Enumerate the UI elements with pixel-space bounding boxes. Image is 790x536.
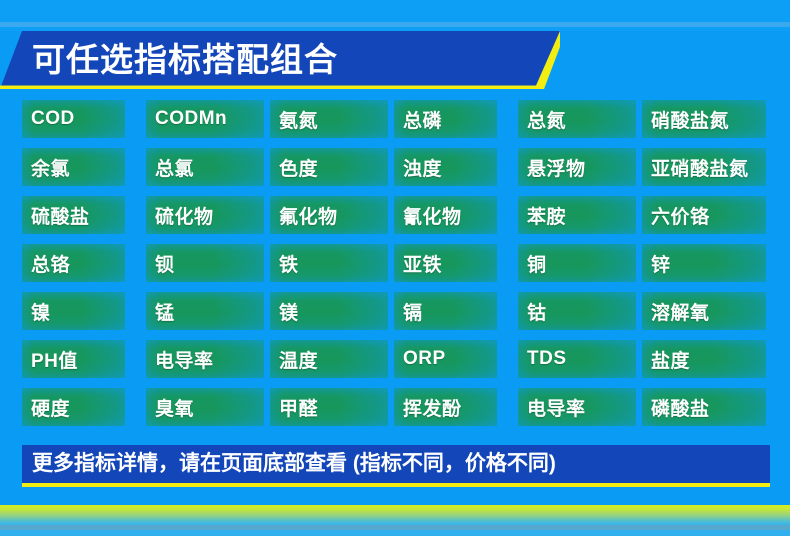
indicator-tag-cell: 色度 [270,148,394,196]
indicator-tag[interactable]: 钡 [146,244,264,282]
indicator-tag-row: 镍锰镁镉钴溶解氧 [22,292,770,340]
indicator-tag[interactable]: 余氯 [22,148,125,186]
indicator-tag-cell: 甲醛 [270,388,394,436]
indicator-tag[interactable]: CODMn [146,100,264,138]
bottom-spacer [0,489,790,505]
indicator-tag-cell: 亚铁 [394,244,518,292]
indicator-tag-cell: 锰 [146,292,270,340]
indicator-tag-cell: 磷酸盐 [642,388,766,436]
indicator-tag-cell: 总磷 [394,100,518,148]
indicator-tag[interactable]: ORP [394,340,497,378]
indicator-tag-cell: CODMn [146,100,270,148]
indicator-tag[interactable]: 氨氮 [270,100,388,138]
indicator-tag-row: PH值电导率温度ORPTDS盐度 [22,340,770,388]
indicator-tag-grid: CODCODMn氨氮总磷总氮硝酸盐氮余氯总氯色度浊度悬浮物亚硝酸盐氮硫酸盐硫化物… [22,100,770,436]
indicator-tag-cell: 镍 [22,292,146,340]
indicator-tag-row: CODCODMn氨氮总磷总氮硝酸盐氮 [22,100,770,148]
indicator-tag-cell: 锌 [642,244,766,292]
indicator-tag-cell: 铁 [270,244,394,292]
indicator-tag-cell: 臭氧 [146,388,270,436]
indicator-tag-cell: 氟化物 [270,196,394,244]
indicator-tag-cell: 悬浮物 [518,148,642,196]
indicator-tag[interactable]: 氟化物 [270,196,388,234]
indicator-tag[interactable]: 甲醛 [270,388,388,426]
indicator-tag-row: 硬度臭氧甲醛挥发酚电导率磷酸盐 [22,388,770,436]
indicator-tag[interactable]: 锌 [642,244,766,282]
indicator-tag-cell: 硫化物 [146,196,270,244]
indicator-tag[interactable]: 磷酸盐 [642,388,766,426]
indicator-tag[interactable]: 色度 [270,148,388,186]
indicator-tag[interactable]: 总氯 [146,148,264,186]
indicator-tag-cell: 浊度 [394,148,518,196]
indicator-tag[interactable]: 硬度 [22,388,125,426]
top-strip-primary [0,0,790,22]
indicator-tag[interactable]: 亚铁 [394,244,497,282]
indicator-tag-cell: 硫酸盐 [22,196,146,244]
indicator-tag-cell: 钡 [146,244,270,292]
footer-note-banner: 更多指标详情，请在页面底部查看 (指标不同，价格不同) [22,445,770,487]
indicator-tag-cell: 氰化物 [394,196,518,244]
indicator-tag[interactable]: 挥发酚 [394,388,497,426]
indicator-tag-cell: 余氯 [22,148,146,196]
indicator-tag[interactable]: 温度 [270,340,388,378]
indicator-tag[interactable]: 臭氧 [146,388,264,426]
indicator-tag[interactable]: 总磷 [394,100,497,138]
bottom-gradient-strip [0,505,790,525]
indicator-tag[interactable]: 锰 [146,292,264,330]
indicator-tag[interactable]: 溶解氧 [642,292,766,330]
indicator-tag[interactable]: 硫化物 [146,196,264,234]
indicator-tag-cell: 硬度 [22,388,146,436]
indicator-tag[interactable]: 硝酸盐氮 [642,100,766,138]
indicator-tag[interactable]: PH值 [22,340,125,378]
indicator-tag[interactable]: 镁 [270,292,388,330]
indicator-tag[interactable]: 电导率 [146,340,264,378]
indicator-tag-cell: TDS [518,340,642,388]
header-banner: 可任选指标搭配组合 [0,31,560,89]
indicator-tag[interactable]: 硫酸盐 [22,196,125,234]
indicator-tag-cell: 铜 [518,244,642,292]
indicator-tag[interactable]: 盐度 [642,340,766,378]
indicator-tag-cell: 苯胺 [518,196,642,244]
indicator-tag-cell: ORP [394,340,518,388]
indicator-tag-cell: 总氯 [146,148,270,196]
indicator-tag[interactable]: 总铬 [22,244,125,282]
page-title: 可任选指标搭配组合 [32,37,338,83]
indicator-tag[interactable]: 浊度 [394,148,497,186]
indicator-tag[interactable]: 总氮 [518,100,636,138]
indicator-tag[interactable]: 镉 [394,292,497,330]
promo-banner-root: 可任选指标搭配组合 CODCODMn氨氮总磷总氮硝酸盐氮余氯总氯色度浊度悬浮物亚… [0,0,790,536]
indicator-tag[interactable]: 镍 [22,292,125,330]
indicator-tag-cell: 电导率 [146,340,270,388]
indicator-tag-cell: 挥发酚 [394,388,518,436]
indicator-tag-row: 硫酸盐硫化物氟化物氰化物苯胺六价铬 [22,196,770,244]
indicator-tag[interactable]: COD [22,100,125,138]
indicator-tag[interactable]: 电导率 [518,388,636,426]
indicator-tag-cell: 温度 [270,340,394,388]
indicator-tag-cell: PH值 [22,340,146,388]
indicator-tag-cell: 六价铬 [642,196,766,244]
indicator-tag-cell: 镉 [394,292,518,340]
indicator-tag[interactable]: 亚硝酸盐氮 [642,148,766,186]
indicator-tag-cell: 镁 [270,292,394,340]
indicator-tag-cell: 硝酸盐氮 [642,100,766,148]
indicator-tag-cell: 总氮 [518,100,642,148]
indicator-tag-cell: 盐度 [642,340,766,388]
indicator-tag-cell: 溶解氧 [642,292,766,340]
indicator-tag[interactable]: 铁 [270,244,388,282]
footer-note-text: 更多指标详情，请在页面底部查看 (指标不同，价格不同) [32,448,556,480]
indicator-tag-cell: 亚硝酸盐氮 [642,148,766,196]
indicator-tag-cell: 总铬 [22,244,146,292]
indicator-tag[interactable]: 铜 [518,244,636,282]
indicator-tag[interactable]: 悬浮物 [518,148,636,186]
indicator-tag-row: 余氯总氯色度浊度悬浮物亚硝酸盐氮 [22,148,770,196]
bottom-base-bar [0,530,790,536]
indicator-tag-cell: 钴 [518,292,642,340]
indicator-tag[interactable]: 氰化物 [394,196,497,234]
indicator-tag-row: 总铬钡铁亚铁铜锌 [22,244,770,292]
indicator-tag[interactable]: TDS [518,340,636,378]
indicator-tag[interactable]: 钴 [518,292,636,330]
indicator-tag-cell: 电导率 [518,388,642,436]
indicator-tag[interactable]: 苯胺 [518,196,636,234]
indicator-tag-cell: COD [22,100,146,148]
indicator-tag[interactable]: 六价铬 [642,196,766,234]
indicator-tag-cell: 氨氮 [270,100,394,148]
